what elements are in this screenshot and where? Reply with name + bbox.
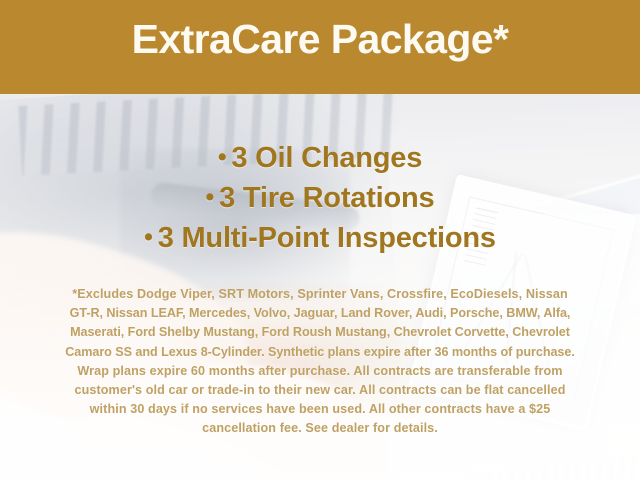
benefit-label: 3 Multi-Point Inspections bbox=[158, 222, 496, 254]
header-bar: ExtraCare Package* bbox=[0, 0, 640, 94]
page-title: ExtraCare Package* bbox=[0, 16, 640, 62]
bullet-dot-icon: • bbox=[206, 178, 215, 217]
disclaimer-line: Maserati, Ford Shelby Mustang, Ford Rous… bbox=[16, 323, 624, 342]
benefit-label: 3 Oil Changes bbox=[231, 142, 422, 174]
disclaimer-line: cancellation fee. See dealer for details… bbox=[16, 419, 624, 438]
disclaimer-line: *Excludes Dodge Viper, SRT Motors, Sprin… bbox=[16, 285, 624, 304]
disclaimer-text: *Excludes Dodge Viper, SRT Motors, Sprin… bbox=[16, 285, 624, 439]
list-item: •3 Tire Rotations bbox=[0, 178, 640, 218]
disclaimer-line: within 30 days if no services have been … bbox=[16, 400, 624, 419]
benefits-list: •3 Oil Changes •3 Tire Rotations •3 Mult… bbox=[0, 138, 640, 258]
disclaimer-line: Wrap plans expire 60 months after purcha… bbox=[16, 362, 624, 381]
list-item: •3 Oil Changes bbox=[0, 138, 640, 178]
disclaimer-line: Camaro SS and Lexus 8-Cylinder. Syntheti… bbox=[16, 343, 624, 362]
disclaimer-line: GT-R, Nissan LEAF, Mercedes, Volvo, Jagu… bbox=[16, 304, 624, 323]
bullet-dot-icon: • bbox=[144, 218, 153, 257]
disclaimer-line: customer's old car or trade-in to their … bbox=[16, 381, 624, 400]
list-item: •3 Multi-Point Inspections bbox=[0, 218, 640, 258]
extracare-package-ad: ExtraCare Package* •3 Oil Changes •3 Tir… bbox=[0, 0, 640, 480]
bullet-dot-icon: • bbox=[218, 138, 227, 177]
benefit-label: 3 Tire Rotations bbox=[219, 182, 434, 214]
